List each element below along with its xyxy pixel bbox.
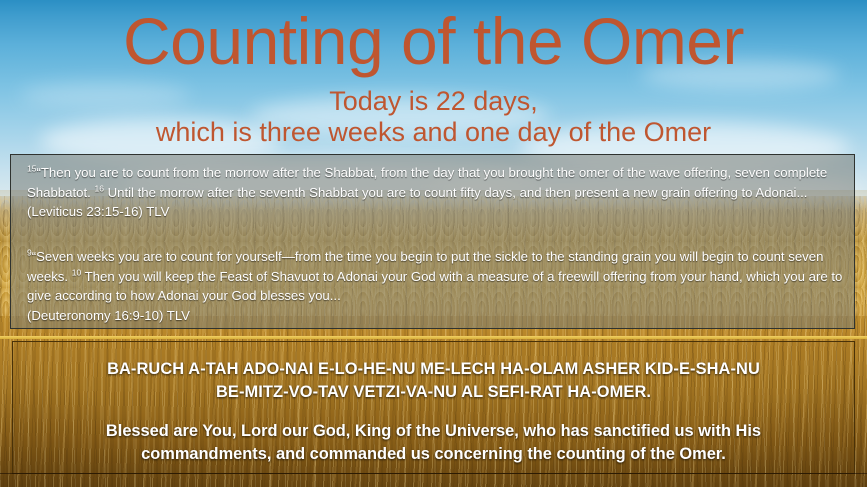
blessing-translation: Blessed are You, Lord our God, King of t… [22,420,845,466]
omer-count-subtitle: Today is 22 days, which is three weeks a… [0,86,867,148]
scripture-panel: 15“Then you are to count from the morrow… [10,154,855,329]
subtitle-line-1: Today is 22 days, [0,86,867,117]
scripture-reference: (Deuteronomy 16:9-10) TLV [27,306,847,326]
translation-line-2: commandments, and commanded us concernin… [22,443,845,466]
blessing-transliteration: BA-RUCH A-TAH ADO-NAI E-LO-HE-NU ME-LECH… [22,358,845,404]
bottom-border [0,473,867,474]
scripture-text-part-2: Until the morrow after the seventh Shabb… [104,185,808,200]
scripture-passage-deuteronomy: 9“Seven weeks you are to count for yours… [27,247,847,325]
omer-slide: Counting of the Omer Today is 22 days, w… [0,0,867,487]
verse-number: 16 [94,183,103,193]
scripture-reference: (Leviticus 23:15-16) TLV [27,202,847,222]
verse-number: 10 [72,267,81,277]
gold-divider [0,336,867,339]
subtitle-line-2: which is three weeks and one day of the … [0,117,867,148]
scripture-passage-leviticus: 15“Then you are to count from the morrow… [27,163,847,222]
page-title: Counting of the Omer [0,2,867,80]
transliteration-line-1: BA-RUCH A-TAH ADO-NAI E-LO-HE-NU ME-LECH… [22,358,845,381]
transliteration-line-2: BE-MITZ-VO-TAV VETZI-VA-NU AL SEFI-RAT H… [22,381,845,404]
scripture-text-part-2: Then you will keep the Feast of Shavuot … [27,269,842,304]
translation-line-1: Blessed are You, Lord our God, King of t… [22,420,845,443]
